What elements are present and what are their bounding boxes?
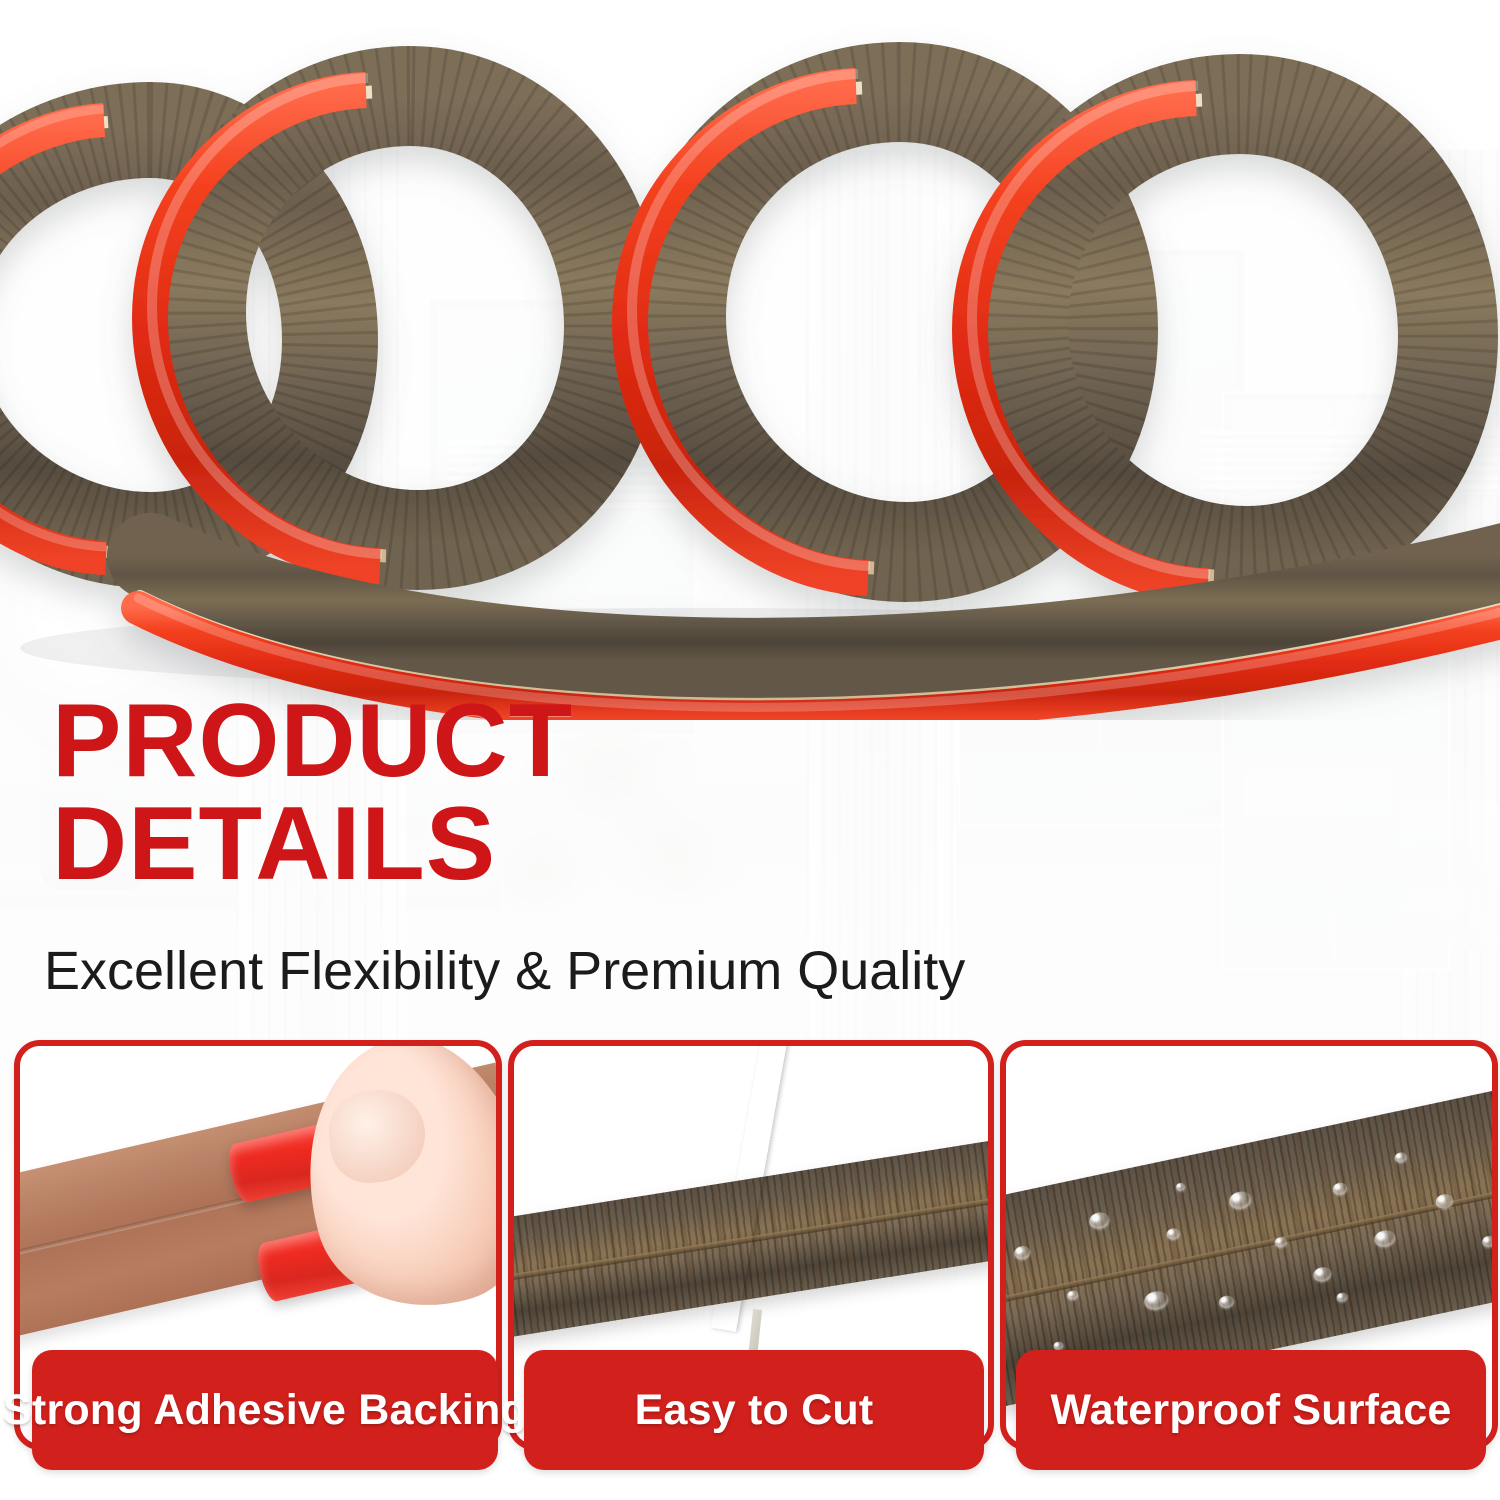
water-droplet [1014,1244,1032,1260]
water-droplet [1336,1291,1349,1302]
feature-card-list: Strong Adhesive Backing Easy to Cut Wate… [0,1040,1500,1480]
water-droplet [1088,1210,1111,1230]
page-title-line-1: PRODUCT [52,683,573,799]
water-droplet [1067,1289,1080,1300]
thumbnail [324,1086,429,1188]
product-detail-graphic: PRODUCT DETAILS Excellent Flexibility & … [0,0,1500,1500]
water-droplet [1218,1294,1235,1309]
feature-label-2: Waterproof Surface [1050,1386,1451,1435]
headline-block: PRODUCT DETAILS [52,690,1012,896]
feature-banner-strong-adhesive-backing[interactable]: Strong Adhesive Backing [32,1350,498,1470]
feature-banner-waterproof-surface[interactable]: Waterproof Surface [1016,1350,1486,1470]
hero-product-coils [0,0,1500,720]
water-droplet [1175,1181,1185,1191]
water-droplet [1228,1189,1253,1210]
page-subtitle: Excellent Flexibility & Premium Quality [44,942,1244,1001]
water-droplet [1143,1289,1170,1312]
page-title: PRODUCT DETAILS [52,690,1012,896]
water-droplet [1394,1151,1408,1163]
water-droplet [1166,1227,1181,1240]
water-droplet [1312,1265,1333,1282]
water-droplet [1374,1228,1398,1248]
feature-banner-easy-to-cut[interactable]: Easy to Cut [524,1350,984,1470]
feature-label-1: Easy to Cut [635,1386,874,1435]
feature-label-0: Strong Adhesive Backing [3,1386,527,1435]
page-title-line-2: DETAILS [52,793,1012,896]
water-droplet [1332,1181,1348,1196]
water-droplet [1481,1234,1492,1247]
